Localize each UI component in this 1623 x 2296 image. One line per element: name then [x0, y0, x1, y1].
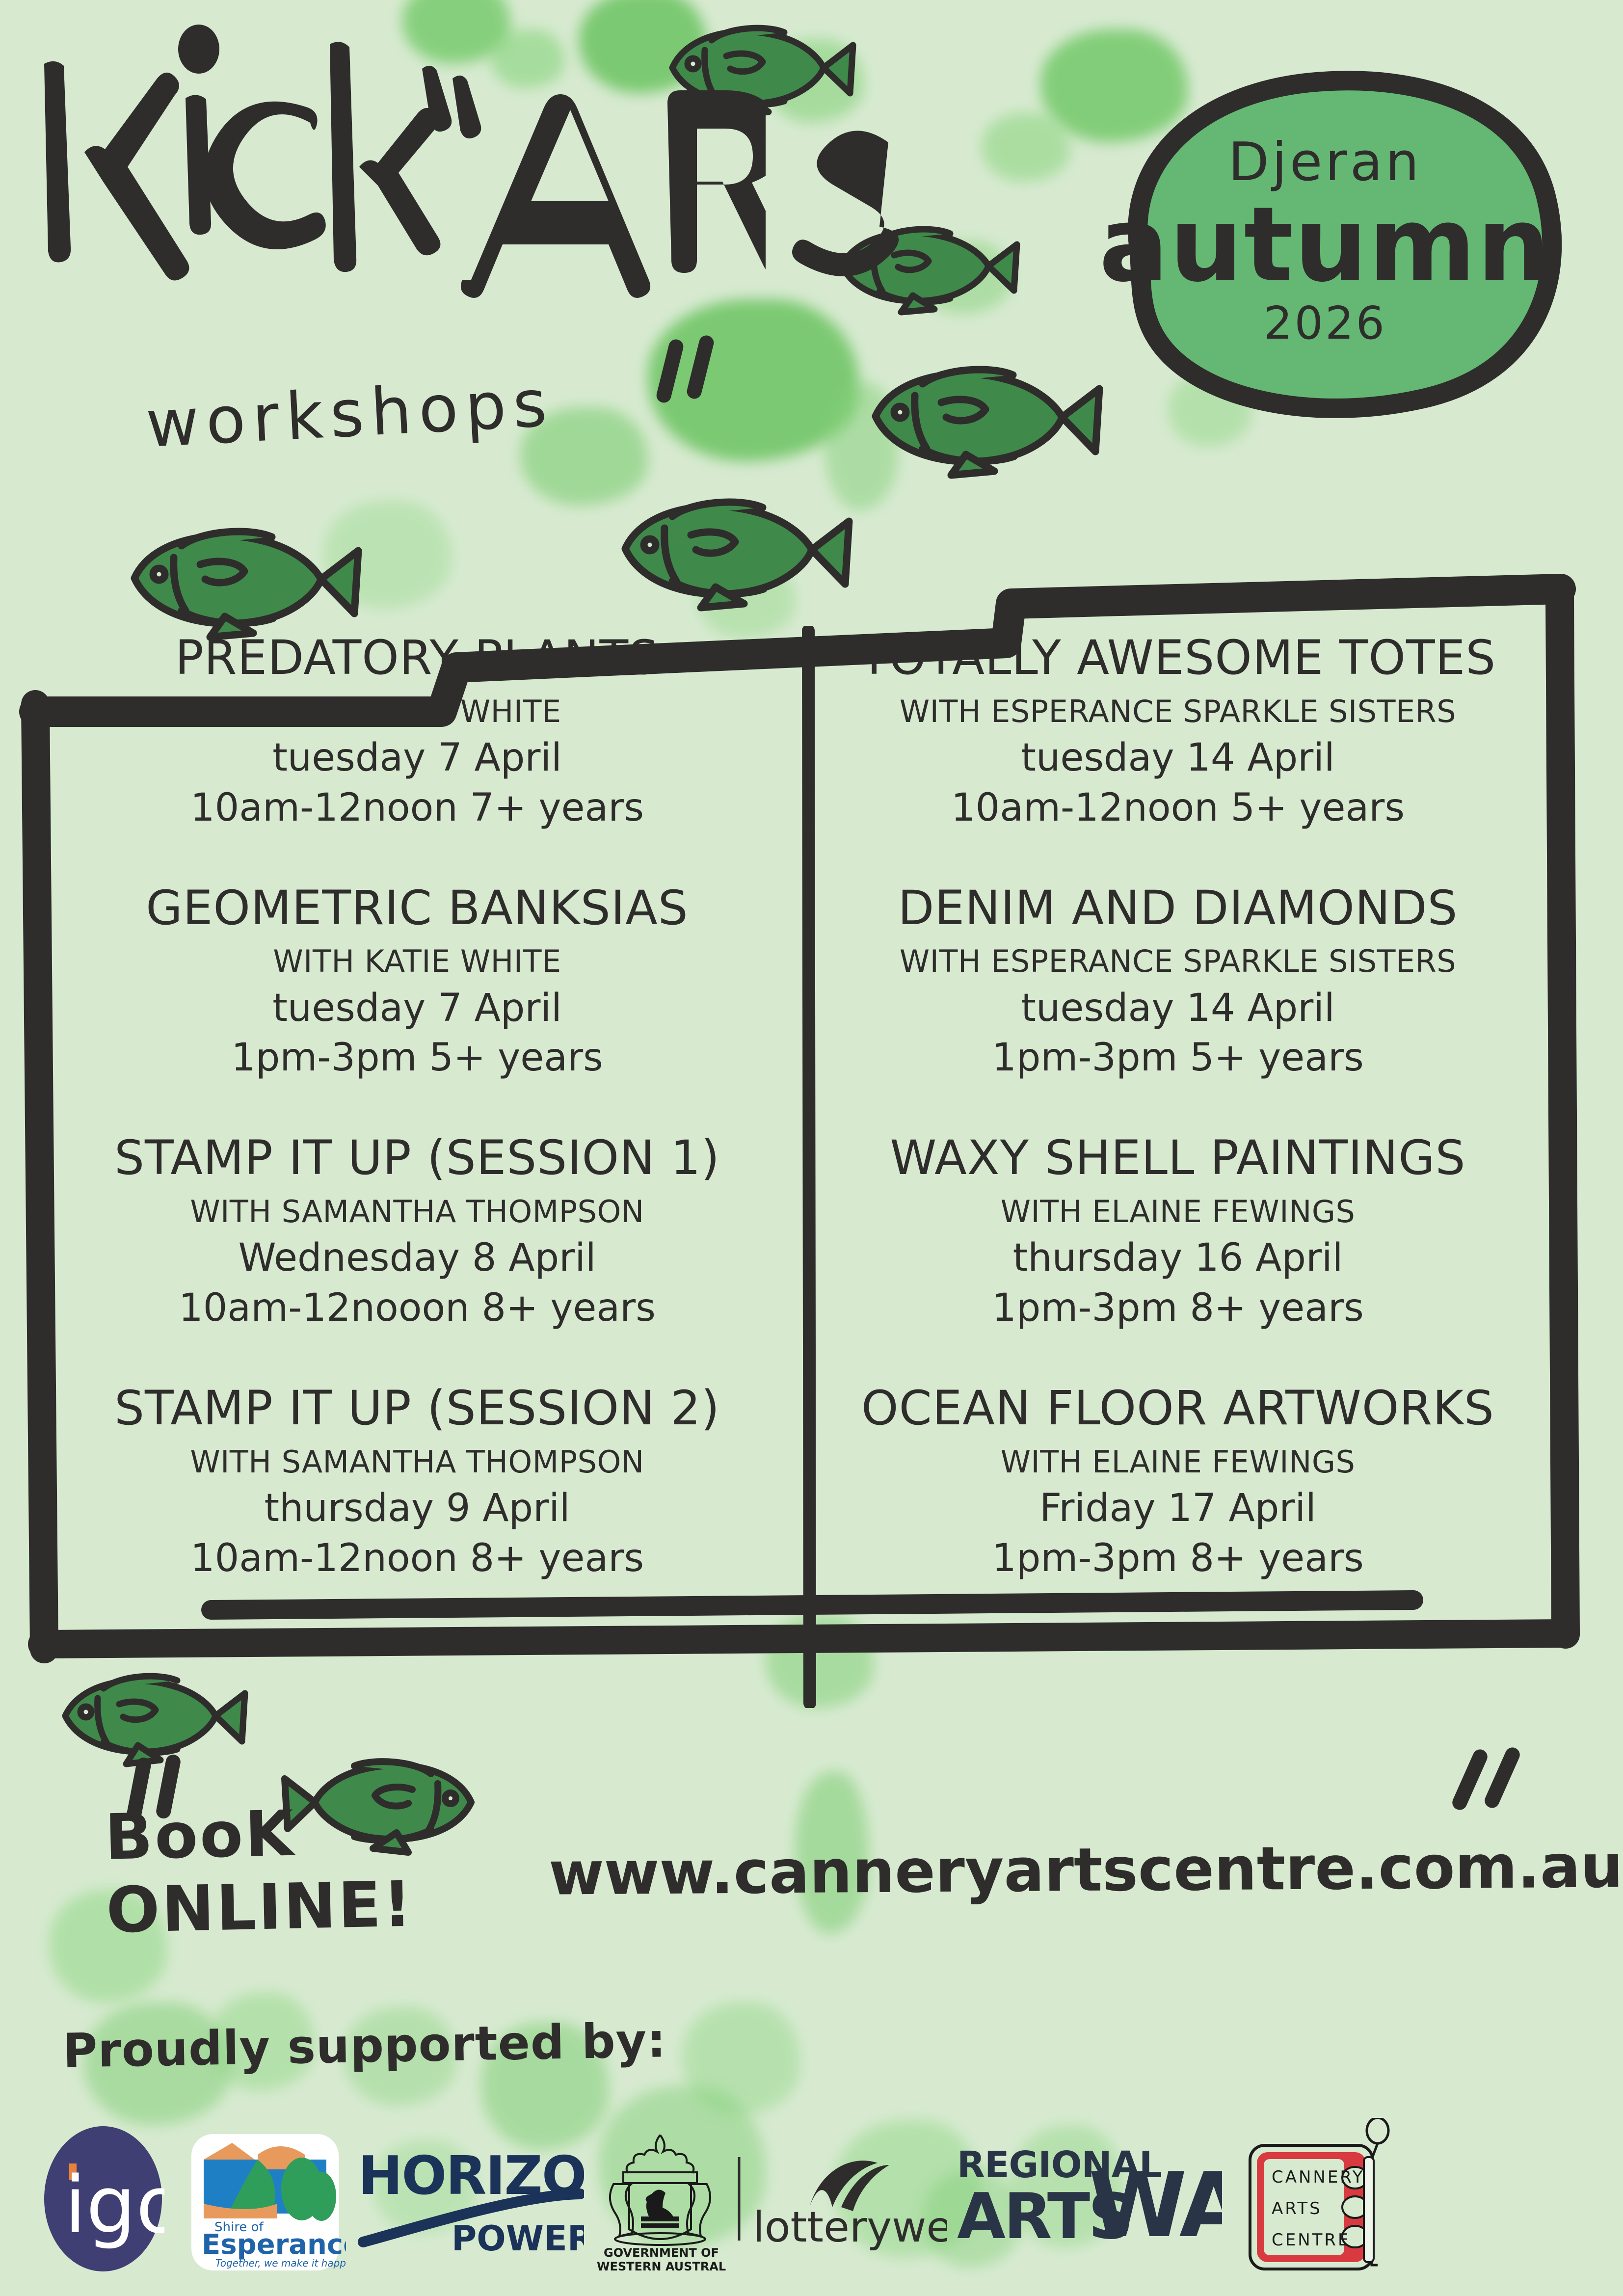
workshop-date: tuesday 14 April	[805, 988, 1551, 1029]
workshop-date: thursday 16 April	[805, 1238, 1551, 1279]
sponsor-esperance-label: Esperance	[202, 2229, 346, 2261]
workshop-date: tuesday 7 April	[59, 738, 775, 778]
workshop-presenter: WITH KATIE WHITE	[59, 945, 775, 977]
workshop-item[interactable]: TOTALLY AWESOME TOTES WITH ESPERANCE SPA…	[805, 633, 1551, 828]
workshop-time-age: 10am-12nooon 8+ years	[59, 1288, 775, 1329]
workshop-time-age: 1pm-3pm 5+ years	[59, 1038, 775, 1078]
workshop-title: STAMP IT UP (SESSION 2)	[59, 1384, 775, 1433]
workshop-item[interactable]: STAMP IT UP (SESSION 2) WITH SAMANTHA TH…	[59, 1384, 775, 1579]
sponsor-power-label: POWER	[452, 2218, 584, 2258]
sponsor-logo-igo[interactable]: igo	[29, 2125, 177, 2272]
sponsor-gov-label2: WESTERN AUSTRALIA	[597, 2260, 726, 2272]
season-badge: Djeran autumn 2026	[1080, 34, 1570, 427]
sponsor-logo-shire-of-esperance[interactable]: Shire of Esperance Together, we make it …	[177, 2120, 353, 2277]
workshops-label: workshops	[147, 373, 556, 462]
fish-illustration	[113, 515, 368, 638]
workshop-presenter: WITH SAMANTHA THOMPSON	[59, 1196, 775, 1228]
workshop-date: tuesday 14 April	[805, 738, 1551, 778]
workshop-presenter: WITH ELAINE FEWINGS	[805, 1196, 1551, 1228]
sponsors-heading: Proudly supported by:	[62, 2013, 666, 2078]
workshop-title: DENIM AND DIAMONDS	[805, 883, 1551, 933]
sponsor-logo-government-of-western-australia[interactable]: GOVERNMENT OF WESTERN AUSTRALIA	[589, 2125, 731, 2272]
workshop-title: OCEAN FLOOR ARTWORKS	[805, 1384, 1551, 1433]
booking-row[interactable]: BooK ONLINE! www.canneryartscentre.com.a…	[0, 1811, 1623, 1929]
workshop-presenter: WITH KATIE WHITE	[59, 695, 775, 727]
workshop-presenter: WITH ESPERANCE SPARKLE SISTERS	[805, 695, 1551, 727]
workshop-listings: PREDATORY PLANTS WITH KATIE WHITE tuesda…	[0, 633, 1623, 1634]
fish-illustration	[604, 486, 859, 609]
workshop-item[interactable]: OCEAN FLOOR ARTWORKS WITH ELAINE FEWINGS…	[805, 1384, 1551, 1579]
workshop-time-age: 10am-12noon 8+ years	[59, 1539, 775, 1579]
workshop-item[interactable]: WAXY SHELL PAINTINGS WITH ELAINE FEWINGS…	[805, 1133, 1551, 1329]
sponsor-cannery-label2: ARTS	[1272, 2199, 1322, 2218]
workshop-column-left: PREDATORY PLANTS WITH KATIE WHITE tuesda…	[0, 633, 775, 1634]
workshop-date: thursday 9 April	[59, 1489, 775, 1529]
workshop-date: Friday 17 April	[805, 1489, 1551, 1529]
kickarts-logo	[29, 5, 766, 378]
workshop-time-age: 1pm-3pm 8+ years	[805, 1288, 1551, 1329]
sponsor-logo-cannery-arts-centre[interactable]: CANNERY ARTS CENTRE	[1227, 2118, 1404, 2280]
sponsor-cannery-label3: CENTRE	[1272, 2230, 1351, 2250]
sponsor-logos: igo Shire of Esperance Together, we make…	[0, 2115, 1623, 2282]
sponsor-logo-lotterywest[interactable]: lotterywest	[731, 2137, 952, 2260]
sponsor-lotterywest-label: lotterywest	[753, 2203, 947, 2252]
workshop-column-right: TOTALLY AWESOME TOTES WITH ESPERANCE SPA…	[775, 633, 1551, 1634]
fish-illustration	[47, 1664, 253, 1767]
workshop-time-age: 10am-12noon 5+ years	[805, 788, 1551, 828]
sponsor-esperance-tagline: Together, we make it happen!	[215, 2257, 346, 2269]
workshop-time-age: 1pm-3pm 8+ years	[805, 1539, 1551, 1579]
sponsor-logo-horizon-power[interactable]: HORIZON POWER	[353, 2140, 589, 2258]
season-year: 2026	[1264, 297, 1386, 349]
workshop-presenter: WITH ELAINE FEWINGS	[805, 1446, 1551, 1478]
workshop-title: GEOMETRIC BANKSIAS	[59, 883, 775, 933]
sponsor-igo-label: igo	[64, 2159, 164, 2251]
booking-url[interactable]: www.canneryartscentre.com.au	[548, 1831, 1623, 1908]
workshop-time-age: 1pm-3pm 5+ years	[805, 1038, 1551, 1078]
kickarts-logo-s	[766, 54, 972, 280]
workshop-item[interactable]: PREDATORY PLANTS WITH KATIE WHITE tuesda…	[59, 633, 775, 828]
workshop-presenter: WITH ESPERANCE SPARKLE SISTERS	[805, 945, 1551, 977]
fish-illustration	[854, 353, 1109, 476]
workshop-title: PREDATORY PLANTS	[59, 633, 775, 683]
workshop-title: STAMP IT UP (SESSION 1)	[59, 1133, 775, 1183]
workshop-time-age: 10am-12noon 7+ years	[59, 788, 775, 828]
workshop-item[interactable]: STAMP IT UP (SESSION 1) WITH SAMANTHA TH…	[59, 1133, 775, 1329]
sponsor-wa-label: WA	[1089, 2153, 1222, 2257]
workshop-item[interactable]: DENIM AND DIAMONDS WITH ESPERANCE SPARKL…	[805, 883, 1551, 1079]
workshops-wordmark: workshops	[147, 373, 609, 471]
sponsor-cannery-label: CANNERY	[1272, 2167, 1365, 2187]
workshop-date: Wednesday 8 April	[59, 1238, 775, 1279]
workshop-title: TOTALLY AWESOME TOTES	[805, 633, 1551, 683]
workshop-title: WAXY SHELL PAINTINGS	[805, 1133, 1551, 1183]
workshop-presenter: WITH SAMANTHA THOMPSON	[59, 1446, 775, 1478]
workshop-item[interactable]: GEOMETRIC BANKSIAS WITH KATIE WHITE tues…	[59, 883, 775, 1079]
season-label: autumn	[1099, 196, 1551, 294]
season-noongar-label: Djeran	[1228, 132, 1422, 193]
book-online-label: BooK ONLINE!	[104, 1792, 515, 1947]
sponsor-gov-label: GOVERNMENT OF	[604, 2246, 719, 2260]
sponsor-logo-regional-arts-wa[interactable]: REGIONAL ARTS WA	[952, 2135, 1227, 2263]
workshop-date: tuesday 7 April	[59, 988, 775, 1029]
poster-canvas: workshops Djeran autumn 2026	[0, 0, 1623, 2296]
